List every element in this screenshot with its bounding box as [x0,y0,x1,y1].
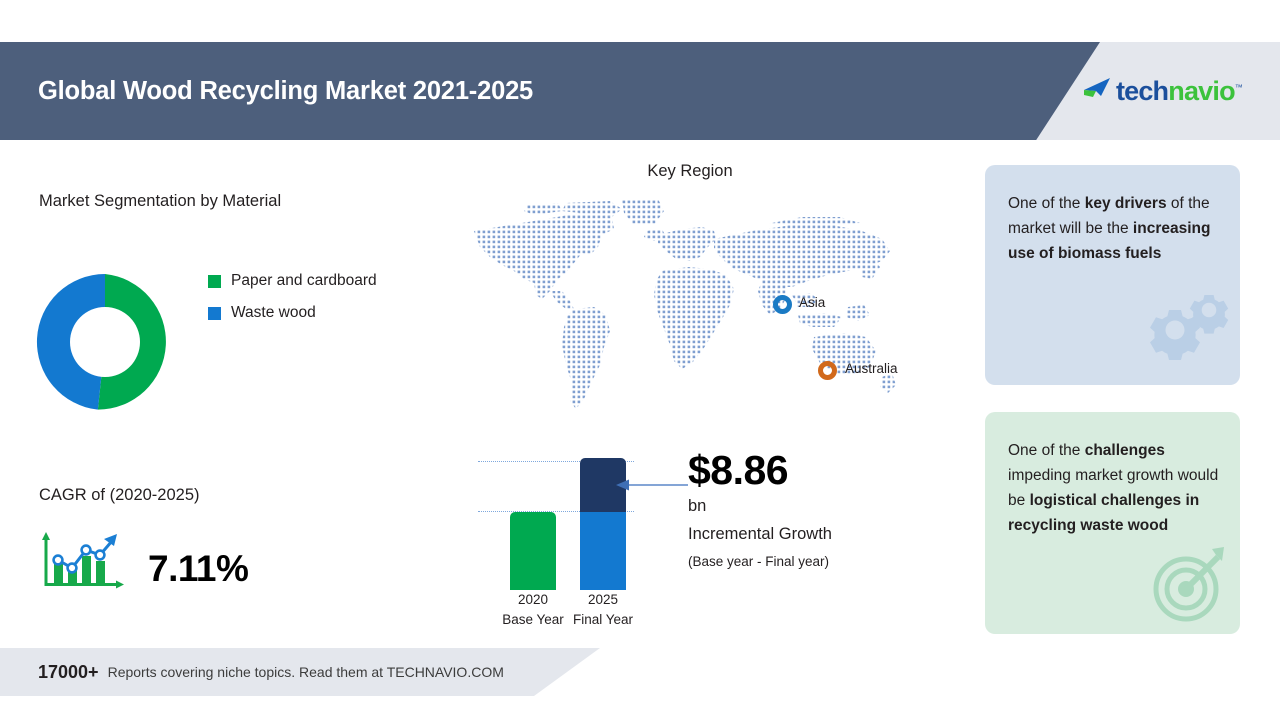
footer-report-count: 17000+ [38,662,99,683]
legend-swatch-wastewood [208,307,221,320]
incremental-growth-bar-chart: 2020 Base Year 2025 Final Year [470,450,650,590]
legend-label-paper: Paper and cardboard [231,272,377,290]
map-marker-label-asia: Asia [799,295,825,310]
paper-plane-icon [1082,76,1112,107]
map-marker-asia[interactable] [773,295,792,314]
challenges-part-2: challenges [1085,442,1165,459]
legend-swatch-paper [208,275,221,288]
bar-2025-base [580,512,626,590]
page-header: Global Wood Recycling Market 2021-2025 t… [0,42,1280,140]
bar-2020 [510,512,556,590]
map-marker-australia[interactable] [818,361,837,380]
map-title: Key Region [460,162,920,181]
bar-2020-base [510,512,556,590]
key-drivers-card: One of the key drivers of the market wil… [985,165,1240,385]
challenges-text: One of the challenges impeding market gr… [1008,438,1223,538]
growth-unit: bn [688,493,988,519]
segmentation-title: Market Segmentation by Material [39,190,299,212]
key-drivers-text: One of the key drivers of the market wil… [1008,191,1223,266]
footer-tagline: Reports covering niche topics. Read them… [108,664,504,680]
segmentation-legend: Paper and cardboard Waste wood [208,272,448,336]
bar-sublabel-2025: Final Year [560,610,646,630]
growth-value: $8.86 [688,447,988,493]
incremental-growth-callout: $8.86 bn Incremental Growth (Base year -… [688,447,988,575]
logo-text-tech: tech [1116,76,1168,106]
page-title: Global Wood Recycling Market 2021-2025 [38,42,533,140]
logo-trademark: ™ [1235,83,1242,92]
growth-label: Incremental Growth [688,519,988,549]
target-icon [1146,539,1234,632]
technavio-logo[interactable]: technavio™ [1082,42,1242,140]
cagr-title: CAGR of (2020-2025) [39,486,200,505]
growth-sublabel: (Base year - Final year) [688,549,988,575]
world-map-svg [462,195,902,420]
growth-chart-icon [38,528,130,596]
legend-label-wastewood: Waste wood [231,304,316,322]
legend-item: Waste wood [208,304,448,322]
drivers-part-2: key drivers [1085,195,1167,212]
legend-item: Paper and cardboard [208,272,448,290]
donut-hole [70,307,140,377]
drivers-part-1: One of the [1008,195,1085,212]
map-marker-label-australia: Australia [845,361,898,376]
cagr-value: 7.11% [148,548,248,590]
footer-content: 17000+ Reports covering niche topics. Re… [38,648,504,696]
gears-icon [1142,286,1234,383]
logo-wordmark: technavio™ [1116,76,1242,107]
world-map: Asia Australia [462,195,902,420]
challenges-card: One of the challenges impeding market gr… [985,412,1240,634]
challenges-part-1: One of the [1008,442,1085,459]
segmentation-donut-chart [35,272,175,412]
callout-arrow-icon [614,478,688,492]
logo-text-navio: navio [1168,76,1235,106]
bar-year-2025: 2025 [560,590,646,610]
challenges-part-4: logistical challenges in recycling waste… [1008,492,1199,534]
bar-caption-2025: 2025 Final Year [560,590,646,630]
